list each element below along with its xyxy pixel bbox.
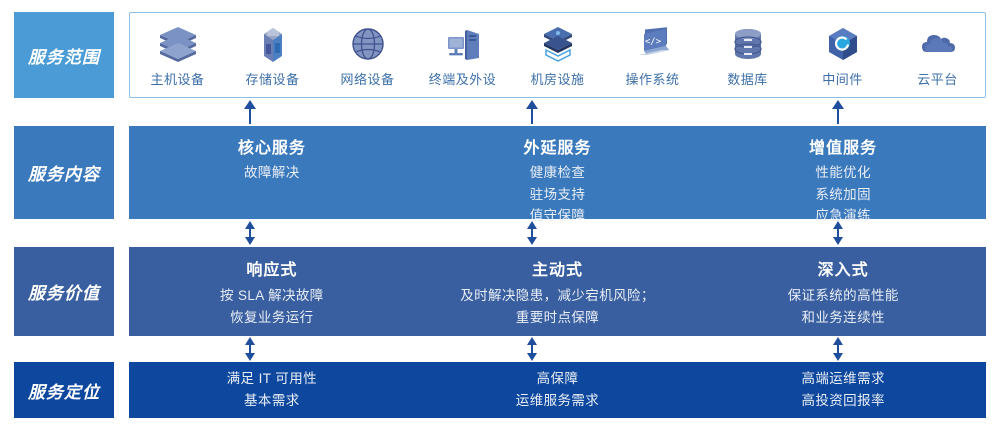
cell-line: 值守保障 (530, 206, 586, 226)
cell-line: 保证系统的高性能 (788, 286, 899, 306)
cell-line: 高保障 (537, 369, 579, 389)
content-cell-core[interactable]: 核心服务 故障解决 (129, 126, 415, 219)
connector-scope-to-content-center (524, 100, 540, 124)
row-label-service-scope: 服务范围 (14, 12, 114, 98)
cell-lines: 故障解决 (244, 163, 300, 183)
scope-item-label: 云平台 (917, 69, 958, 88)
scope-item-label: 中间件 (822, 69, 863, 88)
cell-line: 高端运维需求 (801, 369, 884, 389)
position-cell-basic[interactable]: 满足 IT 可用性 基本需求 (129, 362, 415, 418)
content-panel: 核心服务 故障解决 外延服务 健康检查 驻场支持 值守保障 增值服务 (129, 126, 986, 219)
cell-line: 按 SLA 解决故障 (220, 286, 324, 306)
cell-lines: 健康检查 驻场支持 值守保障 (530, 163, 586, 226)
service-system-diagram: 服务范围 (0, 0, 1000, 424)
cell-line: 及时解决隐患，减少宕机风险； (460, 286, 655, 306)
cell-lines: 高保障 运维服务需求 (516, 369, 599, 410)
row-service-position: 服务定位 满足 IT 可用性 基本需求 高保障 运维服务需求 (0, 362, 1000, 418)
cell-title: 响应式 (246, 256, 297, 280)
cell-title: 外延服务 (524, 134, 592, 158)
scope-item-label: 操作系统 (625, 69, 679, 88)
value-cell-list: 响应式 按 SLA 解决故障 恢复业务运行 主动式 及时解决隐患，减少宕机风险；… (129, 247, 986, 336)
cell-line: 健康检查 (530, 163, 586, 183)
cell-line: 恢复业务运行 (230, 308, 313, 328)
scope-item-label: 存储设备 (245, 69, 299, 88)
scope-panel: 主机设备 存储设备 (129, 12, 986, 98)
cell-title: 深入式 (818, 256, 869, 280)
cell-lines: 按 SLA 解决故障 恢复业务运行 (220, 286, 324, 327)
cell-line: 系统加固 (815, 185, 871, 205)
content-cell-list: 核心服务 故障解决 外延服务 健康检查 驻场支持 值守保障 增值服务 (129, 126, 986, 219)
cell-lines: 满足 IT 可用性 基本需求 (227, 369, 317, 410)
cell-line: 重要时点保障 (516, 308, 599, 328)
value-cell-responsive[interactable]: 响应式 按 SLA 解决故障 恢复业务运行 (129, 247, 415, 336)
value-panel: 响应式 按 SLA 解决故障 恢复业务运行 主动式 及时解决隐患，减少宕机风险；… (129, 247, 986, 336)
cell-lines: 及时解决隐患，减少宕机风险； 重要时点保障 (460, 286, 655, 327)
scope-item-database[interactable]: 数据库 (700, 23, 795, 88)
cell-lines: 性能优化 系统加固 应急演练 (815, 163, 871, 226)
cell-line: 故障解决 (244, 163, 300, 183)
scope-item-label: 主机设备 (150, 69, 204, 88)
connector-value-to-position-center (524, 337, 540, 361)
scope-item-label: 数据库 (727, 69, 768, 88)
cell-line: 和业务连续性 (801, 308, 884, 328)
cell-title: 核心服务 (238, 134, 306, 158)
cell-line: 高投资回报率 (801, 391, 884, 411)
server-stack-icon (156, 23, 200, 65)
scope-item-host[interactable]: 主机设备 (130, 23, 225, 88)
globe-network-icon (346, 23, 390, 65)
row-label-service-content: 服务内容 (14, 126, 114, 219)
cloud-platform-icon (916, 23, 960, 65)
cell-line: 应急演练 (815, 206, 871, 226)
row-service-value: 服务价值 响应式 按 SLA 解决故障 恢复业务运行 主动式 及时解决隐患，减少… (0, 247, 1000, 336)
position-panel: 满足 IT 可用性 基本需求 高保障 运维服务需求 高端运维需求 高投资回报率 (129, 362, 986, 418)
row-label-service-position: 服务定位 (14, 362, 114, 418)
connector-value-to-position-right (830, 337, 846, 361)
database-cylinder-icon (726, 23, 770, 65)
scope-item-middleware[interactable]: 中间件 (795, 23, 890, 88)
cell-title: 增值服务 (809, 134, 877, 158)
value-cell-indepth[interactable]: 深入式 保证系统的高性能 和业务连续性 (700, 247, 986, 336)
data-center-rack-icon (536, 23, 580, 65)
scope-item-list: 主机设备 存储设备 (130, 13, 985, 97)
cell-title: 主动式 (532, 256, 583, 280)
cell-line: 基本需求 (244, 391, 300, 411)
row-label-service-value: 服务价值 (14, 247, 114, 336)
cell-line: 满足 IT 可用性 (227, 369, 317, 389)
scope-item-storage[interactable]: 存储设备 (225, 23, 320, 88)
scope-item-terminal[interactable]: 终端及外设 (415, 23, 510, 88)
scope-item-datacenter[interactable]: 机房设施 (510, 23, 605, 88)
content-cell-extended[interactable]: 外延服务 健康检查 驻场支持 值守保障 (415, 126, 701, 219)
desktop-terminal-icon (441, 23, 485, 65)
position-cell-premium[interactable]: 高端运维需求 高投资回报率 (700, 362, 986, 418)
storage-array-icon (251, 23, 295, 65)
cell-lines: 保证系统的高性能 和业务连续性 (788, 286, 899, 327)
connector-scope-to-content-left (242, 100, 258, 124)
row-service-scope: 服务范围 (0, 12, 1000, 98)
connector-content-to-value-left (242, 221, 258, 245)
scope-item-network[interactable]: 网络设备 (320, 23, 415, 88)
scope-item-label: 网络设备 (340, 69, 394, 88)
cell-lines: 高端运维需求 高投资回报率 (801, 369, 884, 410)
scope-item-cloud[interactable]: 云平台 (890, 23, 985, 88)
connector-value-to-position-left (242, 337, 258, 361)
position-cell-assurance[interactable]: 高保障 运维服务需求 (415, 362, 701, 418)
scope-item-label: 机房设施 (530, 69, 584, 88)
connector-scope-to-content-right (830, 100, 846, 124)
cube-middleware-icon (821, 23, 865, 65)
laptop-code-icon: </> (631, 23, 675, 65)
scope-item-os[interactable]: </> 操作系统 (605, 23, 700, 88)
content-cell-valueadd[interactable]: 增值服务 性能优化 系统加固 应急演练 (700, 126, 986, 219)
cell-line: 性能优化 (815, 163, 871, 183)
cell-line: 运维服务需求 (516, 391, 599, 411)
row-service-content: 服务内容 核心服务 故障解决 外延服务 健康检查 驻场支持 值守保障 (0, 126, 1000, 219)
svg-text:</>: </> (644, 37, 661, 47)
scope-item-label: 终端及外设 (429, 69, 497, 88)
cell-line: 驻场支持 (530, 185, 586, 205)
value-cell-proactive[interactable]: 主动式 及时解决隐患，减少宕机风险； 重要时点保障 (415, 247, 701, 336)
position-cell-list: 满足 IT 可用性 基本需求 高保障 运维服务需求 高端运维需求 高投资回报率 (129, 362, 986, 418)
